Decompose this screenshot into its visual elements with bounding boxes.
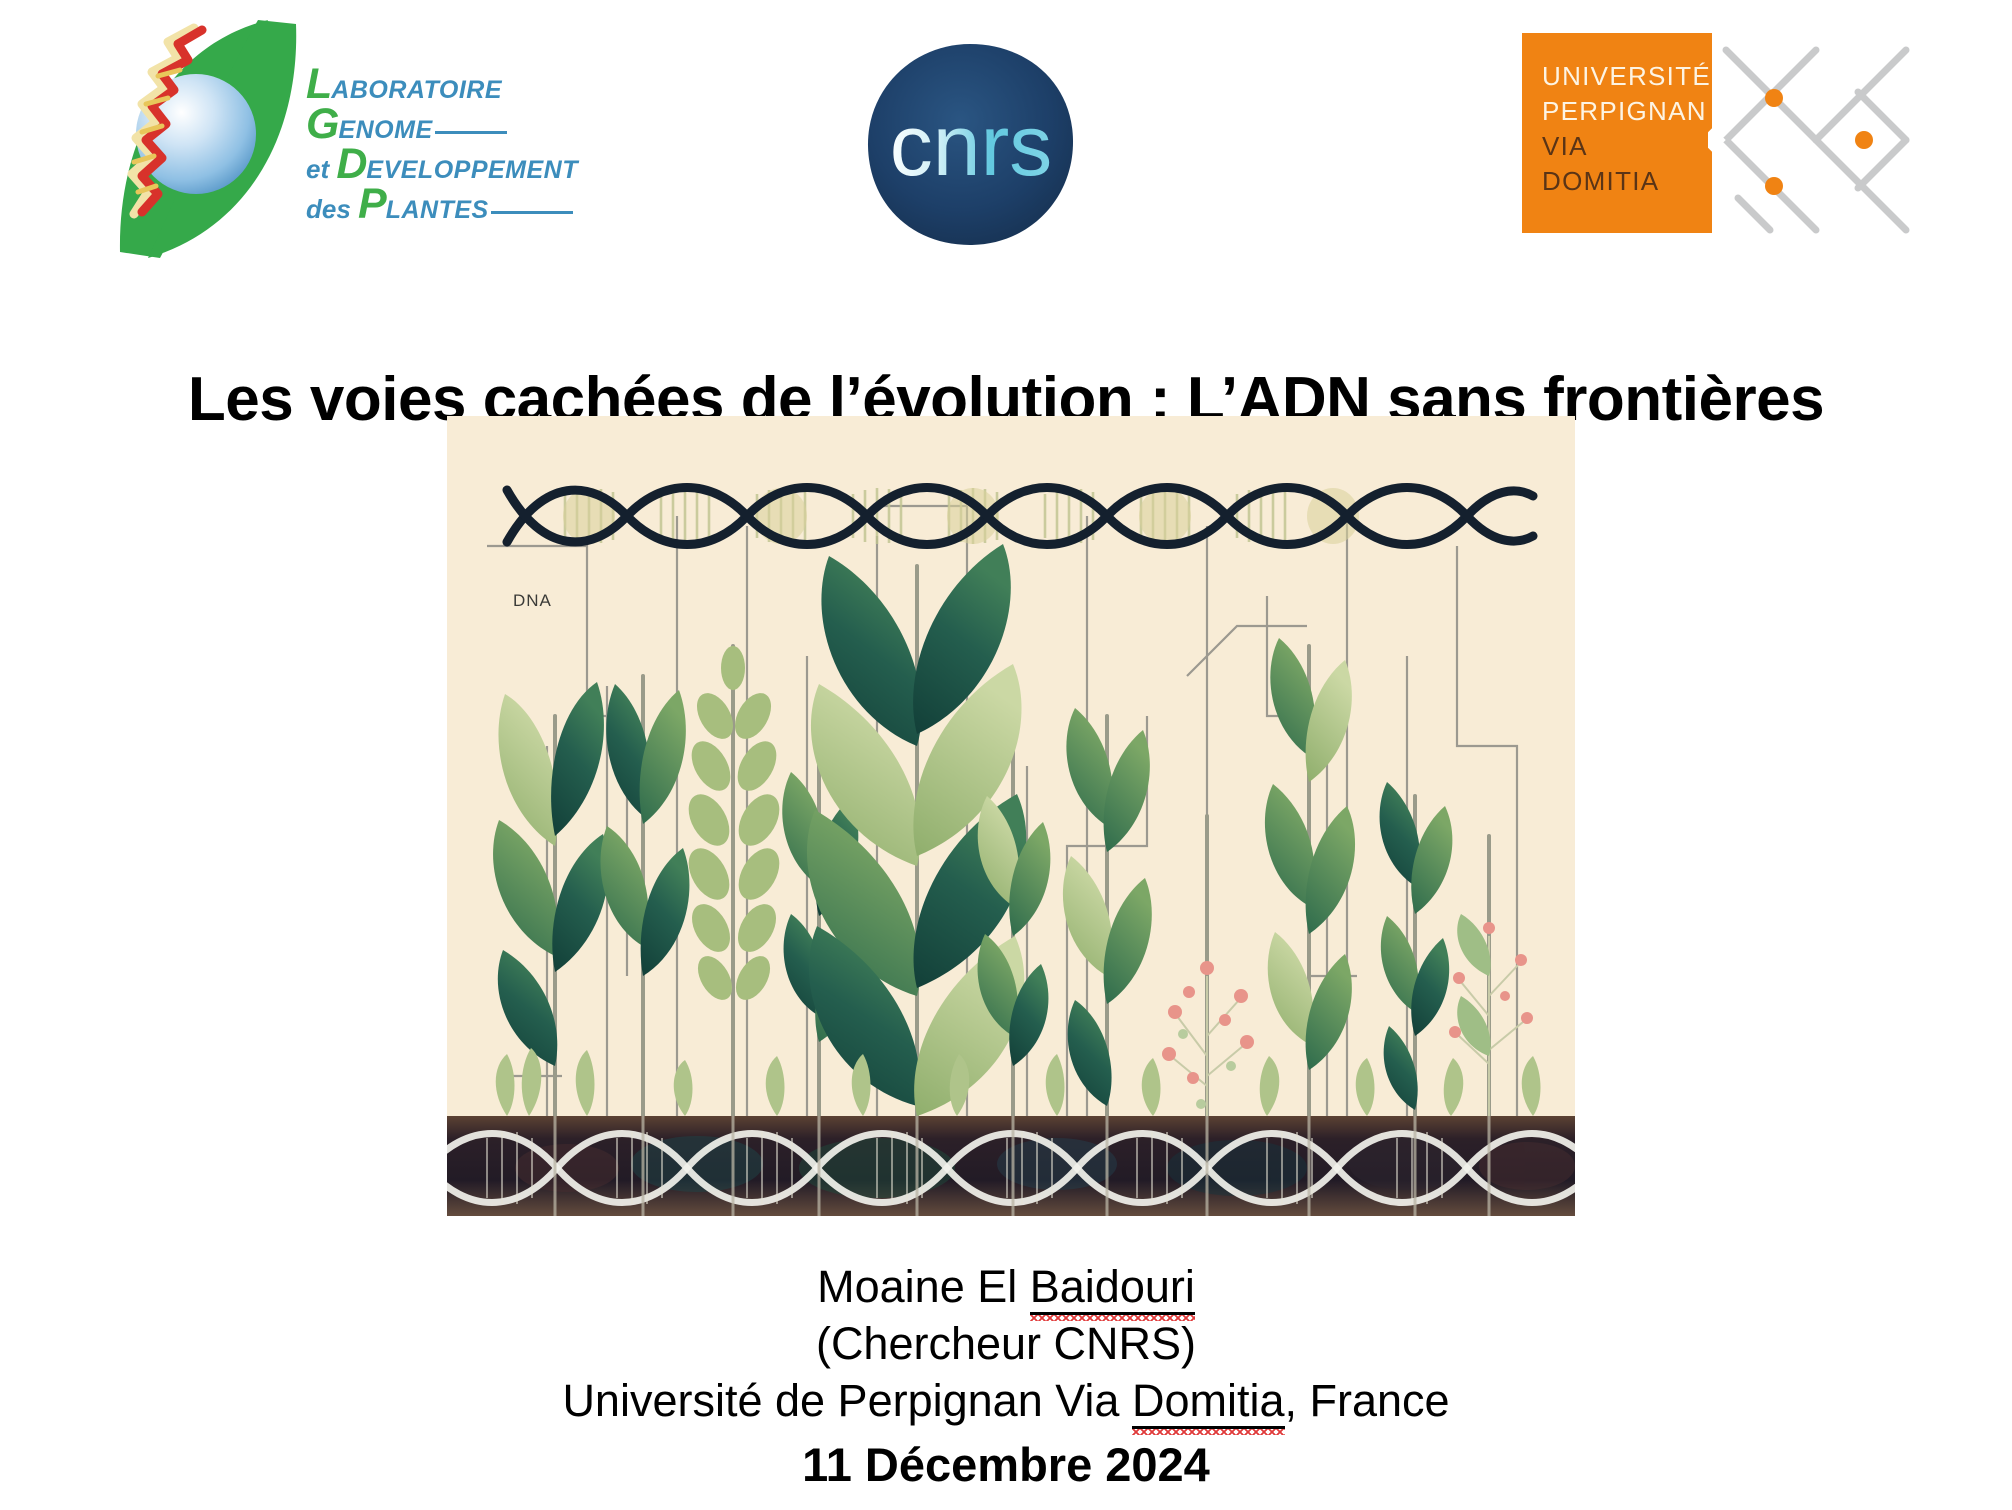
lgdp-rest-plantes: LANTES bbox=[386, 196, 489, 224]
lgdp-rule-genome bbox=[435, 131, 507, 134]
lgdp-pre-et: et bbox=[306, 154, 336, 184]
upvd-logo: UNIVERSITÉ PERPIGNAN VIA DOMITIA bbox=[1522, 28, 1922, 243]
lgdp-cap-p: P bbox=[358, 180, 386, 228]
lgdp-line-developpement: et DEVELOPPEMENT bbox=[306, 144, 568, 184]
cnrs-wordmark: cnrs bbox=[890, 98, 1052, 194]
cnrs-logo: cnrs bbox=[866, 42, 1076, 247]
dna-label: DNA bbox=[513, 591, 552, 610]
upvd-line-via: VIA bbox=[1542, 129, 1711, 164]
affiliation-suffix: , France bbox=[1285, 1375, 1450, 1426]
lgdp-line-genome: GENOME bbox=[306, 104, 568, 144]
affiliation-flagged: Domitia bbox=[1132, 1375, 1285, 1429]
logo-bar: LABORATOIRE GENOME et DEVELOPPEMENT des … bbox=[0, 0, 2012, 290]
author-name-prefix: Moaine El bbox=[817, 1261, 1030, 1312]
lgdp-rest-developpement: EVELOPPEMENT bbox=[366, 156, 578, 184]
lgdp-emblem-icon bbox=[108, 14, 308, 264]
upvd-lattice-icon bbox=[1708, 28, 1922, 243]
upvd-line-perpignan: PERPIGNAN bbox=[1542, 94, 1711, 129]
affiliation-prefix: Université de Perpignan Via bbox=[562, 1375, 1132, 1426]
lgdp-wordmark: LABORATOIRE GENOME et DEVELOPPEMENT des … bbox=[306, 64, 568, 244]
lgdp-line-plantes: des PLANTES bbox=[306, 184, 568, 224]
lgdp-pre-des: des bbox=[306, 194, 358, 224]
author-block: Moaine El Baidouri (Chercheur CNRS) Univ… bbox=[0, 1258, 2012, 1429]
upvd-orange-box: UNIVERSITÉ PERPIGNAN VIA DOMITIA bbox=[1522, 33, 1712, 233]
upvd-line-domitia: DOMITIA bbox=[1542, 164, 1711, 199]
presentation-date: 11 Décembre 2024 bbox=[0, 1437, 2012, 1492]
lgdp-rest-laboratoire: ABORATOIRE bbox=[331, 76, 502, 104]
author-name-flagged: Baidouri bbox=[1030, 1261, 1195, 1315]
lgdp-line-laboratoire: LABORATOIRE bbox=[306, 64, 568, 104]
lgdp-rule-plantes bbox=[491, 211, 573, 214]
upvd-line-universite: UNIVERSITÉ bbox=[1542, 59, 1711, 94]
lgdp-logo: LABORATOIRE GENOME et DEVELOPPEMENT des … bbox=[108, 14, 568, 264]
author-affiliation-line: Université de Perpignan Via Domitia, Fra… bbox=[0, 1372, 2012, 1429]
author-role-line: (Chercheur CNRS) bbox=[0, 1315, 2012, 1372]
lgdp-cap-g: G bbox=[306, 100, 338, 148]
plant-dna-illustration-svg: DNA bbox=[447, 416, 1575, 1216]
cnrs-blob-icon: cnrs bbox=[866, 42, 1076, 247]
plant-9 bbox=[1265, 638, 1355, 1070]
upvd-wordmark: UNIVERSITÉ PERPIGNAN VIA DOMITIA bbox=[1542, 59, 1711, 199]
plant-dna-illustration: DNA bbox=[447, 416, 1575, 1216]
author-name-line: Moaine El Baidouri bbox=[0, 1258, 2012, 1315]
